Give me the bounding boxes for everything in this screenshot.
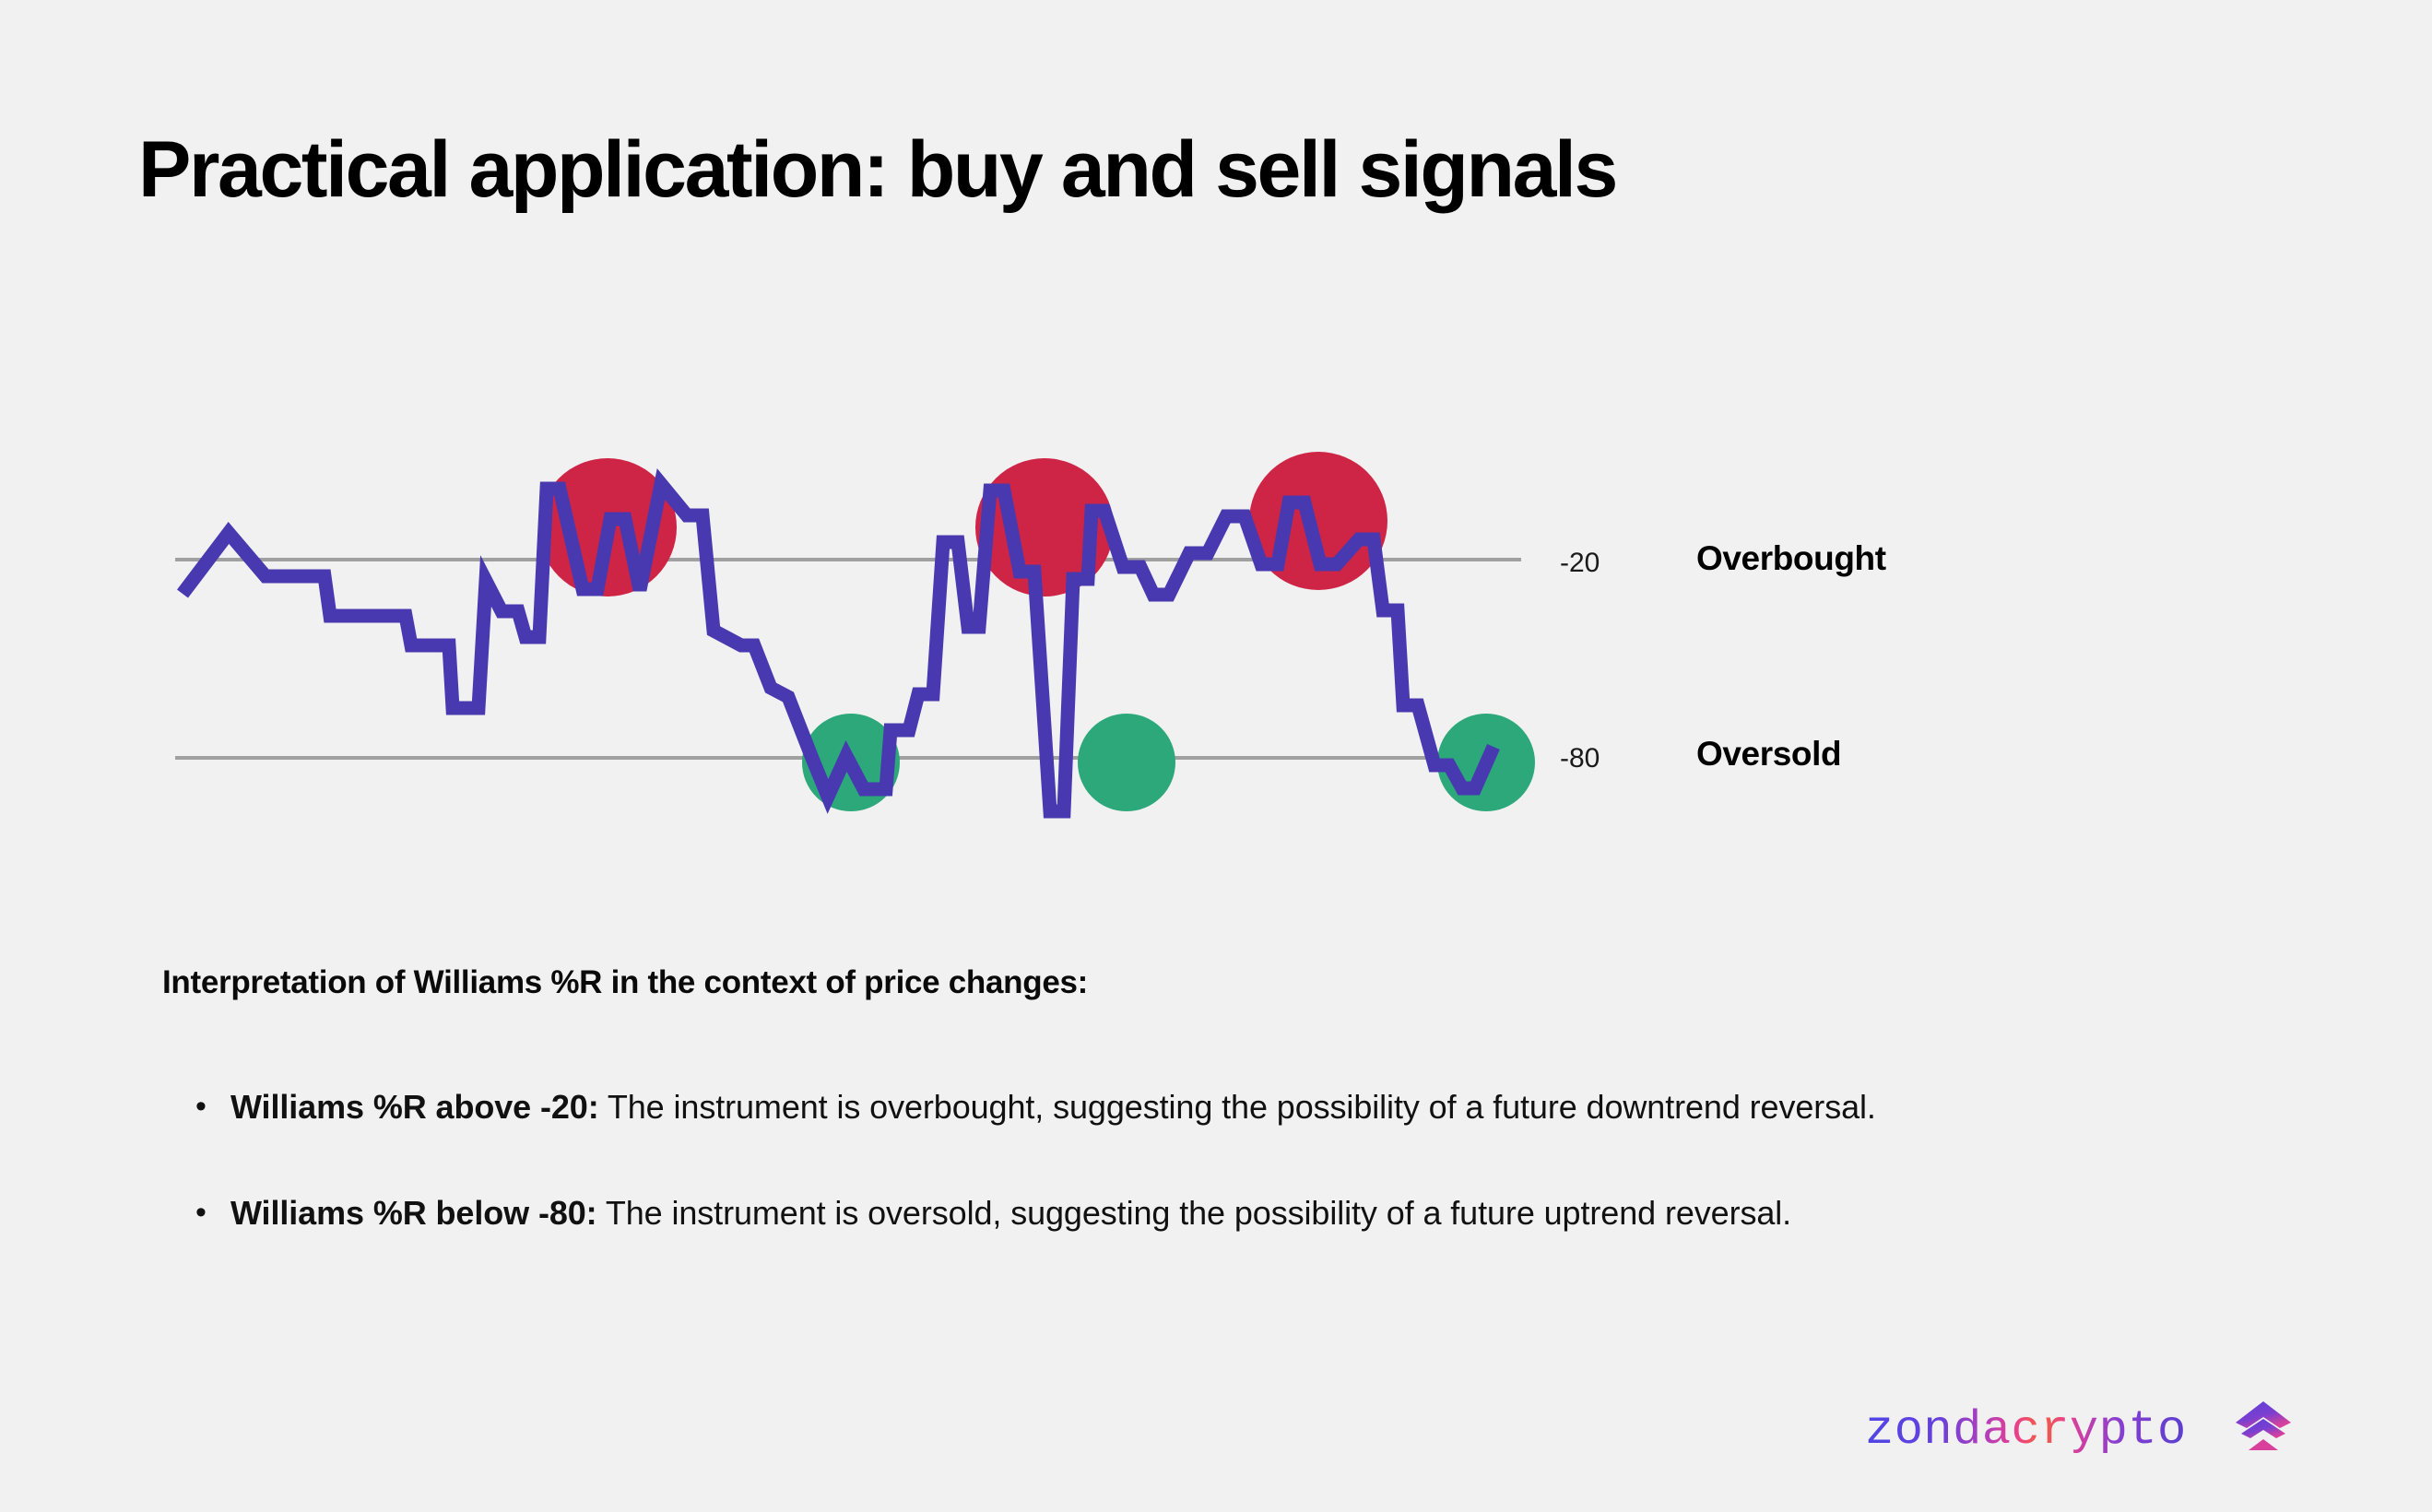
list-item: Williams %R above -20: The instrument is… xyxy=(184,1077,2305,1137)
overbought-marker xyxy=(538,458,677,597)
list-item: Williams %R below -80: The instrument is… xyxy=(184,1183,2305,1243)
overbought-marker xyxy=(1249,452,1387,590)
oversold-marker xyxy=(1437,714,1535,811)
bullet-description: The instrument is oversold, suggesting t… xyxy=(597,1194,1792,1232)
zondacrypto-logo-svg: zondacrypto xyxy=(1865,1395,2298,1461)
oversold-marker xyxy=(1078,714,1175,811)
logo-arrow-icon xyxy=(2236,1401,2291,1450)
overbought-marker xyxy=(975,458,1114,597)
logo-wordmark: zondacrypto xyxy=(1865,1403,2187,1458)
oversold-markers xyxy=(802,714,1535,811)
reference-lines xyxy=(175,560,1521,758)
zondacrypto-logo: zondacrypto xyxy=(1865,1395,2298,1461)
page-title: Practical application: buy and sell sign… xyxy=(138,128,1616,211)
williams-r-line xyxy=(183,484,1493,811)
overbought-tick-label: -20 xyxy=(1560,548,1600,579)
overbought-zone-label: Overbought xyxy=(1696,539,1886,578)
oversold-tick-label: -80 xyxy=(1560,743,1600,774)
bullet-term: Williams %R above -20: xyxy=(230,1088,599,1126)
oversold-marker xyxy=(802,714,900,811)
infographic-page: Practical application: buy and sell sign… xyxy=(0,0,2432,1512)
oversold-zone-label: Oversold xyxy=(1696,735,1841,774)
overbought-markers xyxy=(538,452,1387,597)
interpretation-heading: Interpretation of Williams %R in the con… xyxy=(162,964,1088,1001)
bullet-term: Williams %R below -80: xyxy=(230,1194,597,1232)
interpretation-bullet-list: Williams %R above -20: The instrument is… xyxy=(184,1077,2305,1289)
bullet-description: The instrument is overbought, suggesting… xyxy=(599,1088,1876,1126)
